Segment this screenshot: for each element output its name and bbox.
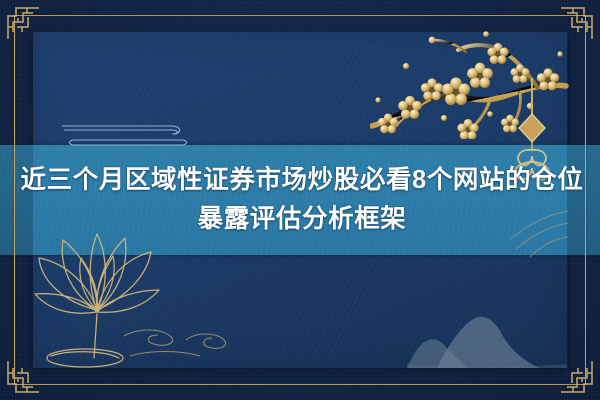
title-line-1: 近三个月区域性证券市场炒股必看8个网站的仓位 [17,161,584,200]
banner-root: 近三个月区域性证券市场炒股必看8个网站的仓位 暴露评估分析框架 [0,0,600,400]
title-block: 近三个月区域性证券市场炒股必看8个网站的仓位 暴露评估分析框架 [0,145,600,255]
title-line-2: 暴露评估分析框架 [194,200,407,239]
